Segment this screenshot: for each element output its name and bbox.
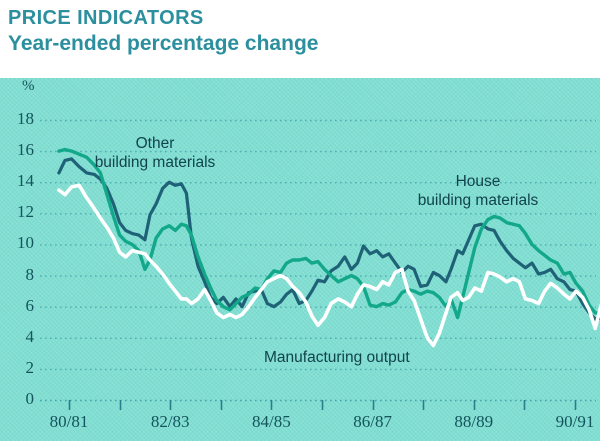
x-tick-label-80-81: 80/81: [29, 412, 109, 432]
page-title: PRICE INDICATORS: [8, 6, 592, 30]
y-tick-label-16: 16: [4, 140, 34, 160]
y-tick-label-6: 6: [4, 296, 34, 316]
x-tick-label-82-83: 82/83: [130, 412, 210, 432]
chart-page: PRICE INDICATORS Year-ended percentage c…: [0, 0, 600, 441]
y-tick-label-8: 8: [4, 265, 34, 285]
annotation-line: building materials: [388, 191, 568, 210]
x-tick-label-84-85: 84/85: [231, 412, 311, 432]
x-axis-ticks: [70, 400, 576, 410]
house-building-materials-label: Housebuilding materials: [388, 172, 568, 210]
y-tick-label-14: 14: [4, 171, 34, 191]
manufacturing-output-label: Manufacturing output: [264, 348, 410, 367]
x-tick-label-86-87: 86/87: [333, 412, 413, 432]
annotation-line: building materials: [93, 153, 217, 172]
annotation-line: Other: [93, 134, 217, 153]
x-tick-label-90-91: 90/91: [535, 412, 600, 432]
y-tick-label-2: 2: [4, 358, 34, 378]
y-tick-label-0: 0: [4, 389, 34, 409]
y-tick-label-12: 12: [4, 202, 34, 222]
x-tick-label-88-89: 88/89: [434, 412, 514, 432]
chart-canvas: [0, 78, 600, 441]
series-line-manufacturing-output: [59, 185, 600, 369]
y-axis-unit-label: %: [22, 78, 35, 95]
y-tick-label-4: 4: [4, 327, 34, 347]
title-block: PRICE INDICATORS Year-ended percentage c…: [8, 6, 592, 57]
annotation-line: Manufacturing output: [264, 348, 410, 367]
other-building-materials-label: Otherbuilding materials: [93, 134, 217, 172]
y-tick-label-10: 10: [4, 233, 34, 253]
y-tick-label-18: 18: [4, 109, 34, 129]
annotation-line: House: [388, 172, 568, 191]
page-subtitle: Year-ended percentage change: [8, 30, 592, 57]
plot-panel: %02468101214161880/8182/8384/8586/8788/8…: [0, 78, 600, 441]
